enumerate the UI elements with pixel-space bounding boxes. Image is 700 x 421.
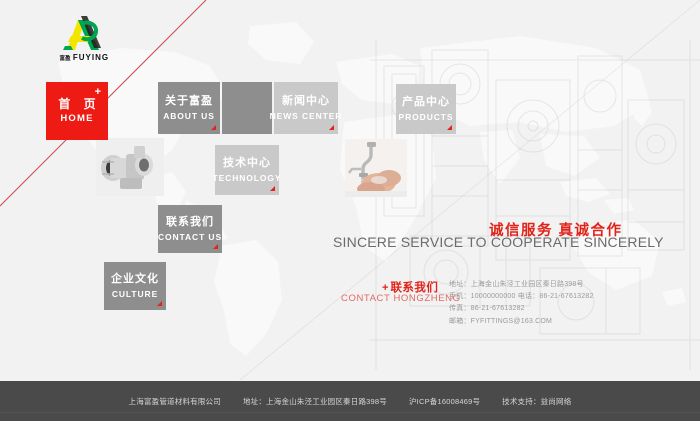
- contact-fax: 传真：86-21-67613282: [449, 303, 659, 315]
- nav-tile-news-cn: 新闻中心: [282, 94, 330, 109]
- contact-details: 地址：上海金山朱泾工业园区秦日路398号 手机：10000000000 电话：8…: [449, 279, 659, 328]
- fittings-photo-tile[interactable]: [96, 138, 164, 196]
- nav-tile-technology-cn: 技术中心: [223, 156, 271, 171]
- corner-marker-icon: [447, 125, 452, 130]
- nav-tile-news[interactable]: 新闻中心 NEWS CENTER: [274, 82, 338, 134]
- logo-wordmark-en: FUYING: [73, 53, 109, 62]
- nav-tile-news-en: NEWS CENTER: [270, 110, 343, 122]
- contact-phone: 手机：10000000000 电话：86-21-67613282: [449, 291, 659, 303]
- nav-tile-contact-cn: 联系我们: [166, 215, 214, 230]
- footer-icp[interactable]: 沪ICP备16008469号: [409, 396, 480, 407]
- page-stage: 富盈 FUYING + 首 页 HOME 关于富盈 ABOUT US 新闻中心: [0, 0, 700, 421]
- footer-divider: [0, 412, 700, 413]
- footer-support[interactable]: 技术支持：益尚网络: [502, 396, 571, 407]
- nav-tile-products[interactable]: 产品中心 PRODUCTS: [396, 84, 456, 134]
- nav-tile-products-en: PRODUCTS: [399, 111, 454, 123]
- contact-heading-en: CONTACT HONGZHENG: [341, 293, 461, 304]
- nav-tile-about[interactable]: 关于富盈 ABOUT US: [158, 82, 220, 134]
- corner-marker-icon: [213, 244, 218, 249]
- plus-icon: +: [95, 87, 101, 98]
- logo-wordmark-cn: 富盈: [59, 53, 70, 61]
- corner-marker-icon: [211, 125, 216, 130]
- nav-tile-culture-en: CULTURE: [112, 288, 158, 300]
- contact-email: 邮箱：FYFITTINGS@163.COM: [449, 316, 659, 328]
- nav-tile-home-en: HOME: [60, 113, 93, 125]
- nav-tile-spacer: [222, 82, 272, 134]
- slogan-english: SINCERE SERVICE TO COOPERATE SINCERELY: [333, 234, 664, 250]
- fuying-a-logo-icon: [47, 14, 121, 52]
- nav-tile-culture-cn: 企业文化: [111, 272, 159, 287]
- chrome-fittings-image: [96, 138, 164, 196]
- nav-tile-about-cn: 关于富盈: [165, 94, 213, 109]
- nav-tile-technology-en: TECHNOLOGY: [213, 172, 282, 184]
- nav-tile-culture[interactable]: 企业文化 CULTURE: [104, 262, 166, 310]
- nav-tile-products-cn: 产品中心: [402, 95, 450, 110]
- faucet-image: [345, 139, 407, 197]
- contact-address: 地址：上海金山朱泾工业园区秦日路398号: [449, 279, 659, 291]
- site-logo[interactable]: 富盈 FUYING: [47, 14, 121, 62]
- nav-tile-home-cn: 首 页: [53, 97, 100, 112]
- nav-tile-technology[interactable]: 技术中心 TECHNOLOGY: [215, 145, 279, 195]
- faucet-photo-tile[interactable]: [345, 139, 407, 197]
- corner-marker-icon: [270, 186, 275, 191]
- footer-company: 上海富盈管道材料有限公司: [129, 396, 221, 407]
- footer-address: 地址：上海金山朱泾工业园区秦日路398号: [243, 396, 387, 407]
- nav-tile-contact[interactable]: 联系我们 CONTACT US: [158, 205, 222, 253]
- nav-tile-home[interactable]: + 首 页 HOME: [46, 82, 108, 140]
- corner-marker-icon: [157, 301, 162, 306]
- site-footer: 上海富盈管道材料有限公司 地址：上海金山朱泾工业园区秦日路398号 沪ICP备1…: [0, 381, 700, 421]
- nav-tile-contact-en: CONTACT US: [158, 231, 222, 243]
- logo-wordmark: 富盈 FUYING: [47, 53, 121, 62]
- corner-marker-icon: [329, 125, 334, 130]
- nav-tile-about-en: ABOUT US: [163, 110, 215, 122]
